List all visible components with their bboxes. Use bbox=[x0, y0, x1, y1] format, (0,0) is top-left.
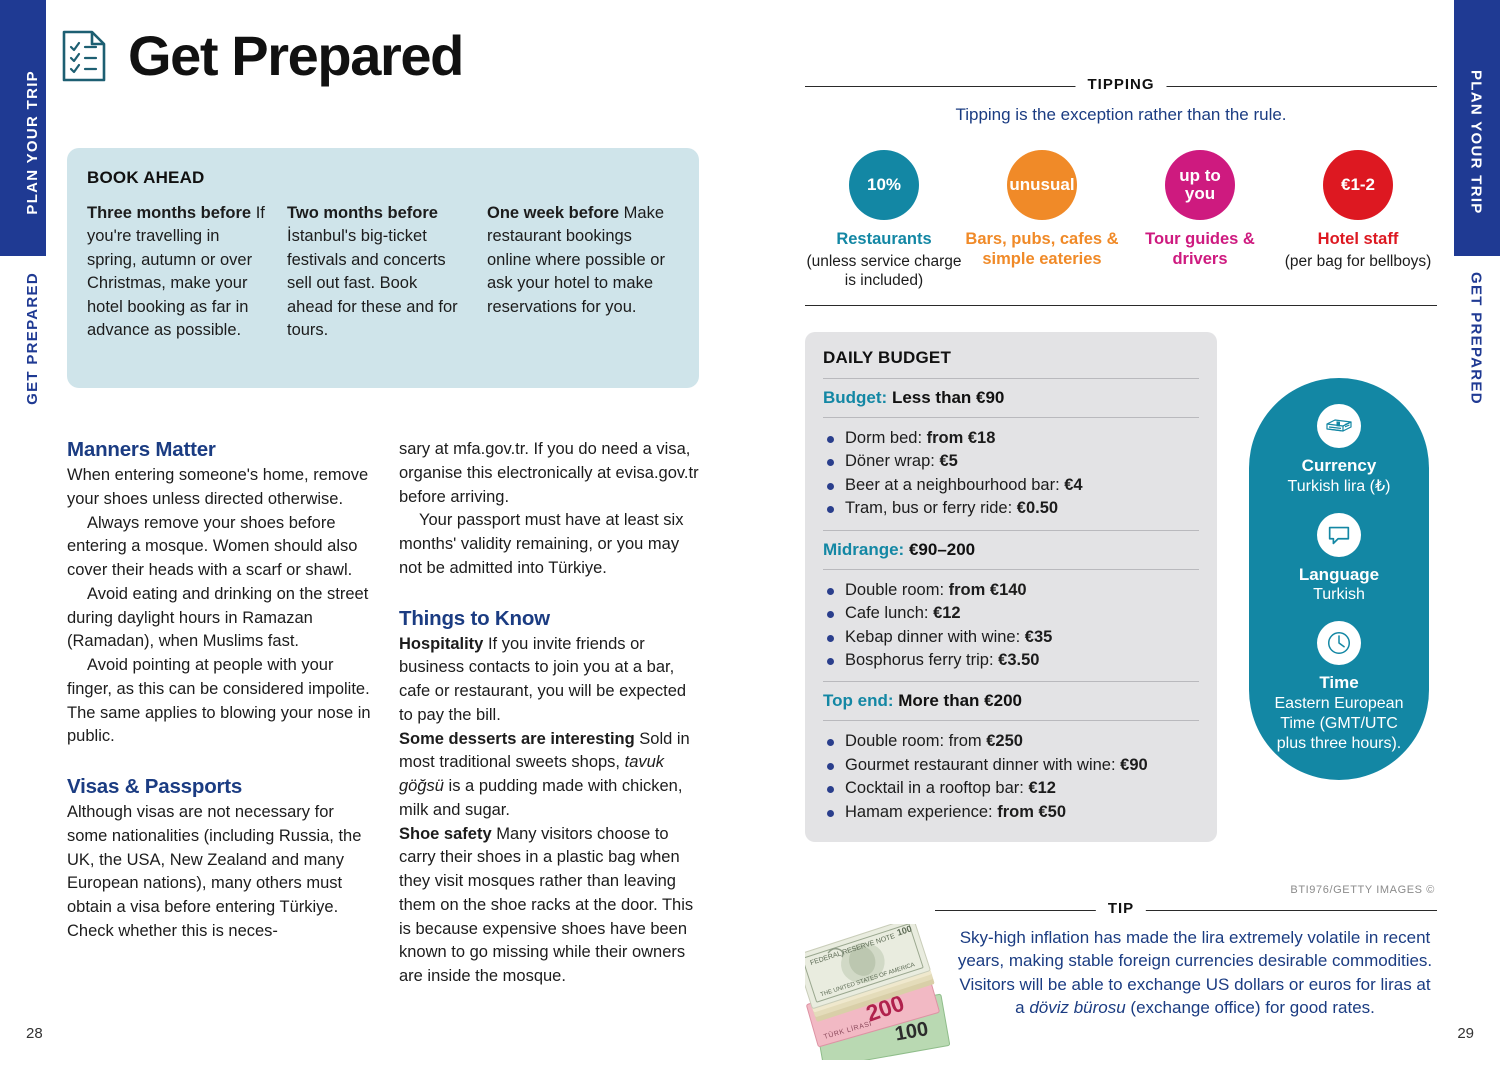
budget-item: Double room: from €250 bbox=[823, 730, 1199, 753]
lead-in: Shoe safety bbox=[399, 825, 492, 843]
right-spine-section-label: PLAN YOUR TRIP bbox=[1468, 70, 1485, 215]
left-spine-subsection-label: GET PREPARED bbox=[24, 272, 41, 405]
book-ahead-lead: Two months before bbox=[287, 204, 438, 222]
italic-term: döviz bürosu bbox=[1029, 998, 1125, 1017]
book-ahead-columns: Three months before If you're travelling… bbox=[87, 202, 683, 343]
item-value: €90 bbox=[1120, 756, 1148, 774]
budget-item: Beer at a neighbourhood bar: €4 bbox=[823, 474, 1199, 497]
tipping-item-note: (unless service charge is included) bbox=[805, 252, 963, 291]
book-ahead-lead: One week before bbox=[487, 204, 619, 222]
item-text: Dorm bed: bbox=[845, 429, 927, 447]
tipping-item-hotel-staff: €1-2 Hotel staff (per bag for bellboys) bbox=[1279, 150, 1437, 291]
tipping-item-bars: unusual Bars, pubs, cafes & simple eater… bbox=[963, 150, 1121, 291]
quick-fact-value: Turkish lira (₺) bbox=[1265, 477, 1413, 497]
item-text: Hamam experience: bbox=[845, 803, 997, 821]
budget-item: Tram, bus or ferry ride: €0.50 bbox=[823, 497, 1199, 520]
budget-item: Dorm bed: from €18 bbox=[823, 427, 1199, 450]
speech-bubble-icon bbox=[1317, 513, 1361, 557]
budget-list-midrange: Double room: from €140 Cafe lunch: €12 K… bbox=[823, 579, 1199, 673]
divider bbox=[823, 530, 1199, 531]
item-text: Double room: from bbox=[845, 732, 986, 750]
budget-item: Kebap dinner with wine: €35 bbox=[823, 626, 1199, 649]
book-spread: PLAN YOUR TRIP GET PREPARED PLAN YOUR TR… bbox=[0, 0, 1500, 1082]
quick-fact-label: Time bbox=[1265, 673, 1413, 693]
tipping-item-restaurants: 10% Restaurants (unless service charge i… bbox=[805, 150, 963, 291]
paragraph: Avoid pointing at people with your finge… bbox=[67, 654, 371, 749]
rule-line bbox=[805, 305, 1437, 306]
item-value: from €140 bbox=[949, 581, 1027, 599]
budget-tier-heading-top-end: Top end: More than €200 bbox=[823, 691, 1199, 711]
page-number-right: 29 bbox=[1457, 1025, 1474, 1042]
tipping-item-note: (per bag for bellboys) bbox=[1279, 252, 1437, 271]
tipping-header: TIPPING bbox=[805, 76, 1437, 96]
body-text: Many visitors choose to carry their shoe… bbox=[399, 825, 693, 986]
divider bbox=[823, 378, 1199, 379]
tipping-subtitle: Tipping is the exception rather than the… bbox=[805, 104, 1437, 126]
banknotes-icon bbox=[1317, 404, 1361, 448]
section-heading-things-to-know: Things to Know bbox=[399, 607, 703, 631]
book-ahead-text: İstanbul's big-ticket festivals and conc… bbox=[287, 227, 458, 339]
tipping-section: TIPPING Tipping is the exception rather … bbox=[805, 76, 1437, 306]
tier-range: Less than €90 bbox=[887, 388, 1004, 407]
tier-label: Top end: bbox=[823, 691, 894, 710]
item-text: Cafe lunch: bbox=[845, 604, 933, 622]
banknotes-photo: 100 200 TÜRK LİRASI bbox=[805, 924, 953, 1060]
tipping-label: TIPPING bbox=[1075, 76, 1166, 93]
right-spine-subsection-label: GET PREPARED bbox=[1468, 272, 1485, 405]
page-title-row: Get Prepared bbox=[62, 28, 463, 84]
item-value: €35 bbox=[1025, 628, 1053, 646]
section-heading-visas-passports: Visas & Passports bbox=[67, 775, 371, 799]
tier-label: Midrange: bbox=[823, 540, 904, 559]
budget-list-budget: Dorm bed: from €18 Döner wrap: €5 Beer a… bbox=[823, 427, 1199, 521]
tipping-badge: unusual bbox=[1007, 150, 1077, 220]
page-title: Get Prepared bbox=[128, 28, 463, 84]
item-value: from €18 bbox=[927, 429, 996, 447]
body-column-2: sary at mfa.gov.tr. If you do need a vis… bbox=[399, 438, 703, 989]
paragraph: Although visas are not necessary for som… bbox=[67, 801, 371, 944]
lead-in: Hospitality bbox=[399, 635, 483, 653]
tip-body: Sky-high inflation has made the lira ext… bbox=[953, 926, 1437, 1020]
budget-item: Cafe lunch: €12 bbox=[823, 602, 1199, 625]
tipping-badge: up to you bbox=[1165, 150, 1235, 220]
left-spine-section-label: PLAN YOUR TRIP bbox=[24, 70, 41, 215]
quick-fact-time: Time Eastern European Time (GMT/UTC plus… bbox=[1265, 621, 1413, 754]
tipping-item-name: Restaurants bbox=[805, 230, 963, 250]
book-ahead-text: If you're travelling in spring, autumn o… bbox=[87, 204, 265, 339]
item-value: €12 bbox=[1028, 779, 1056, 797]
book-ahead-item: Two months before İstanbul's big-ticket … bbox=[287, 202, 465, 343]
book-ahead-item: One week before Make restaurant bookings… bbox=[487, 202, 665, 343]
item-text: Double room: bbox=[845, 581, 949, 599]
budget-item: Hamam experience: from €50 bbox=[823, 801, 1199, 824]
paragraph: Always remove your shoes before entering… bbox=[67, 512, 371, 583]
paragraph: Your passport must have at least six mon… bbox=[399, 509, 703, 580]
budget-item: Double room: from €140 bbox=[823, 579, 1199, 602]
checklist-document-icon bbox=[62, 30, 106, 82]
body-column-1: Manners Matter When entering someone's h… bbox=[67, 438, 371, 989]
section-heading-manners-matter: Manners Matter bbox=[67, 438, 371, 462]
item-value: from €50 bbox=[997, 803, 1066, 821]
book-ahead-title: BOOK AHEAD bbox=[87, 168, 205, 188]
item-text: Beer at a neighbourhood bar: bbox=[845, 476, 1064, 494]
tip-label: TIP bbox=[1096, 900, 1146, 917]
tip-text-b: (exchange office) for good rates. bbox=[1126, 998, 1375, 1017]
left-page: Get Prepared BOOK AHEAD Three months bef… bbox=[62, 0, 702, 1082]
tip-section: TIP Sky-high inflation has made the lira… bbox=[805, 900, 1437, 1020]
clock-icon bbox=[1317, 621, 1361, 665]
budget-tier-heading-budget: Budget: Less than €90 bbox=[823, 388, 1199, 408]
tier-label: Budget: bbox=[823, 388, 887, 407]
quick-fact-value: Turkish bbox=[1265, 585, 1413, 605]
quick-fact-label: Language bbox=[1265, 565, 1413, 585]
budget-item: Bosphorus ferry trip: €3.50 bbox=[823, 649, 1199, 672]
item-text: Tram, bus or ferry ride: bbox=[845, 499, 1017, 517]
item-value: €4 bbox=[1064, 476, 1082, 494]
item-text: Bosphorus ferry trip: bbox=[845, 651, 998, 669]
right-page: TIPPING Tipping is the exception rather … bbox=[800, 0, 1440, 1082]
divider bbox=[823, 720, 1199, 721]
daily-budget-title: DAILY BUDGET bbox=[823, 348, 1199, 368]
divider bbox=[823, 681, 1199, 682]
item-value: €3.50 bbox=[998, 651, 1039, 669]
item-text: Kebap dinner with wine: bbox=[845, 628, 1025, 646]
budget-list-top-end: Double room: from €250 Gourmet restauran… bbox=[823, 730, 1199, 824]
divider bbox=[823, 417, 1199, 418]
tier-range: €90–200 bbox=[904, 540, 975, 559]
item-value: €12 bbox=[933, 604, 961, 622]
quick-facts-capsule: Currency Turkish lira (₺) Language Turki… bbox=[1249, 378, 1429, 780]
tip-header: TIP bbox=[805, 900, 1437, 920]
item-text: Gourmet restaurant dinner with wine: bbox=[845, 756, 1120, 774]
quick-fact-value: Eastern European Time (GMT/UTC plus thre… bbox=[1265, 694, 1413, 754]
tipping-item-name: Bars, pubs, cafes & simple eateries bbox=[963, 230, 1121, 270]
budget-item: Döner wrap: €5 bbox=[823, 450, 1199, 473]
tipping-badge: €1-2 bbox=[1323, 150, 1393, 220]
daily-budget-panel: DAILY BUDGET Budget: Less than €90 Dorm … bbox=[805, 332, 1217, 842]
tipping-item-tour-guides: up to you Tour guides & drivers bbox=[1121, 150, 1279, 291]
page-number-left: 28 bbox=[26, 1025, 43, 1042]
tipping-badge: 10% bbox=[849, 150, 919, 220]
left-body-columns: Manners Matter When entering someone's h… bbox=[67, 438, 703, 989]
paragraph: When entering someone's home, remove you… bbox=[67, 464, 371, 512]
budget-item: Cocktail in a rooftop bar: €12 bbox=[823, 777, 1199, 800]
budget-tier-heading-midrange: Midrange: €90–200 bbox=[823, 540, 1199, 560]
paragraph: Avoid eating and drinking on the street … bbox=[67, 583, 371, 654]
quick-fact-currency: Currency Turkish lira (₺) bbox=[1265, 404, 1413, 497]
book-ahead-lead: Three months before bbox=[87, 204, 251, 222]
item-value: €5 bbox=[939, 452, 957, 470]
paragraph-shoe-safety: Shoe safety Many visitors choose to carr… bbox=[399, 823, 703, 989]
divider bbox=[823, 569, 1199, 570]
tipping-item-name: Tour guides & drivers bbox=[1121, 230, 1279, 270]
item-value: €250 bbox=[986, 732, 1023, 750]
budget-item: Gourmet restaurant dinner with wine: €90 bbox=[823, 754, 1199, 777]
paragraph-desserts: Some desserts are interesting Sold in mo… bbox=[399, 728, 703, 823]
tipping-items: 10% Restaurants (unless service charge i… bbox=[805, 150, 1437, 291]
quick-fact-label: Currency bbox=[1265, 456, 1413, 476]
rule-line bbox=[935, 910, 1437, 911]
lead-in: Some desserts are interesting bbox=[399, 730, 635, 748]
photo-credit: BTI976/GETTY IMAGES © bbox=[1290, 884, 1435, 896]
tipping-item-name: Hotel staff bbox=[1279, 230, 1437, 250]
quick-fact-language: Language Turkish bbox=[1265, 513, 1413, 606]
book-ahead-panel: BOOK AHEAD Three months before If you're… bbox=[67, 148, 699, 388]
paragraph: sary at mfa.gov.tr. If you do need a vis… bbox=[399, 438, 703, 509]
item-text: Cocktail in a rooftop bar: bbox=[845, 779, 1028, 797]
paragraph-hospitality: Hospitality If you invite friends or bus… bbox=[399, 633, 703, 728]
tier-range: More than €200 bbox=[894, 691, 1023, 710]
book-ahead-item: Three months before If you're travelling… bbox=[87, 202, 265, 343]
item-text: Döner wrap: bbox=[845, 452, 939, 470]
item-value: €0.50 bbox=[1017, 499, 1058, 517]
